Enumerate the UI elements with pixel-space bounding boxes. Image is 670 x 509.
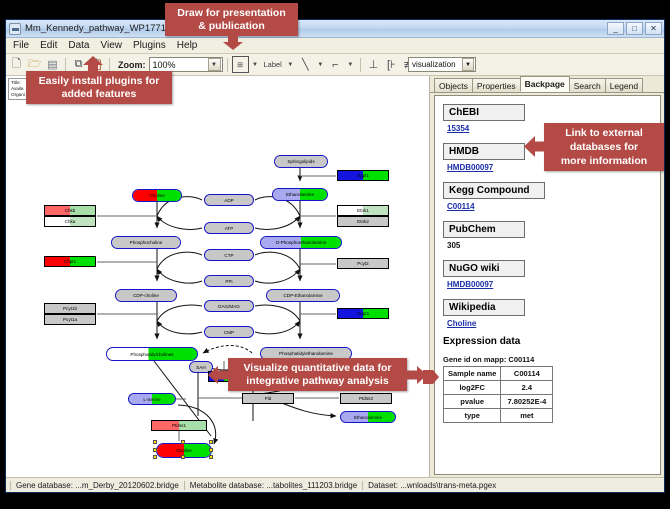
datanode-dropdown-icon[interactable]: ▼	[250, 56, 261, 73]
callout-links: Link to external databases for more info…	[544, 123, 664, 171]
pathway-node-choline-top[interactable]: Choline	[132, 189, 182, 202]
side-panel-tabs: Objects Properties Backpage Search Legen…	[430, 76, 664, 93]
pathway-node-cmp[interactable]: CMP	[204, 326, 254, 338]
node-label: Pcyt1b	[63, 306, 77, 311]
callout-visualize: Visualize quantitative data for integrat…	[228, 358, 407, 391]
node-label: L-Serine	[143, 397, 160, 402]
pathway-node-etnk2[interactable]: Etnk2	[337, 216, 389, 227]
menu-data[interactable]: Data	[66, 39, 95, 52]
callout-draw-text: Draw for presentation & publication	[177, 7, 286, 33]
maximize-button[interactable]: □	[626, 22, 643, 35]
selection-handle[interactable]	[153, 448, 157, 452]
menu-plugins[interactable]: Plugins	[131, 39, 172, 52]
expr-label-cell: Sample name	[444, 367, 501, 381]
tab-search[interactable]: Search	[569, 78, 606, 92]
callout-visualize-text: Visualize quantitative data for integrat…	[243, 362, 391, 388]
callout-draw-arrow-icon	[222, 35, 244, 50]
node-label: DAG/MAG	[218, 304, 240, 309]
node-label: ADP	[224, 198, 233, 203]
visualization-combobox[interactable]: visualization ▼	[408, 57, 476, 72]
expression-data-title: Expression data	[443, 336, 660, 347]
menu-edit[interactable]: Edit	[38, 39, 63, 52]
expression-table: Sample nameC00114log2FC2.4pvalue7.80252E…	[443, 366, 553, 423]
expr-value-cell: 7.80252E-4	[501, 395, 553, 409]
zoom-combobox[interactable]: 100% ▼	[149, 57, 223, 72]
menu-file[interactable]: File	[11, 39, 35, 52]
line-dropdown-icon[interactable]: ▼	[315, 56, 326, 73]
node-label: Chpt1	[64, 259, 76, 264]
window-titlebar: Mm_Kennedy_pathway_WP1771_45176.gpml _ □…	[6, 20, 664, 38]
screenshot-root: Mm_Kennedy_pathway_WP1771_45176.gpml _ □…	[0, 0, 670, 509]
datanode-icon[interactable]: ⊞	[232, 56, 249, 73]
backpage-header-wikipedia: Wikipedia	[443, 299, 525, 316]
node-label: SAH	[196, 365, 205, 370]
tab-properties[interactable]: Properties	[472, 78, 521, 92]
backpage-header-hmdb: HMDB	[443, 143, 525, 160]
pathway-node-sgpl1[interactable]: Sgpl1	[337, 170, 389, 181]
minimize-button[interactable]: _	[607, 22, 624, 35]
node-label: Pcyt1a	[63, 317, 77, 322]
node-label: ATP	[225, 226, 234, 231]
node-label: CTP	[224, 253, 233, 258]
node-label: Etnk2	[357, 219, 369, 224]
tab-objects[interactable]: Objects	[434, 78, 473, 92]
chevron-down-icon[interactable]: ▼	[462, 58, 474, 71]
tab-legend[interactable]: Legend	[605, 78, 643, 92]
selection-handle[interactable]	[181, 440, 185, 444]
node-label: Choline	[176, 448, 192, 453]
node-label: CDP-Ethanolamine	[283, 293, 322, 298]
expr-value-cell: met	[501, 409, 553, 423]
callout-visualize-left-arrow-icon	[208, 365, 230, 385]
table-row: pvalue7.80252E-4	[444, 395, 553, 409]
pathway-node-chpt1[interactable]: Chpt1	[44, 256, 96, 267]
line-tool-icon[interactable]: ╲	[297, 56, 314, 73]
statusbar: Gene database: ...m_Derby_20120602.bridg…	[6, 477, 664, 492]
zoom-label: Zoom:	[118, 60, 146, 70]
visualization-value: visualization	[412, 60, 456, 69]
pathway-node-ctp[interactable]: CTP	[204, 249, 254, 261]
node-label: Pcyt2	[357, 261, 369, 266]
pathway-canvas[interactable]: Title: Availa Organi	[6, 76, 430, 477]
pathway-node-o-phosphoeth[interactable]: O-Phosphoethanolamine	[260, 236, 342, 249]
pathway-node-ptdss2[interactable]: Ptdss2	[340, 393, 392, 404]
receptor-tool-icon[interactable]: ⌐	[327, 56, 344, 73]
pathway-node-dagmag[interactable]: DAG/MAG	[204, 300, 254, 312]
gene-id-line: Gene id on mapp: C00114	[443, 355, 660, 364]
backpage-value-nugo-wiki[interactable]: HMDB00097	[447, 280, 660, 289]
node-label: Ethanolamine	[286, 192, 314, 197]
node-label: Ptdss1	[172, 423, 186, 428]
expr-value-cell: 2.4	[501, 381, 553, 395]
pathway-node-ptdss1[interactable]: Ptdss1	[151, 420, 207, 431]
node-label: Phosphatidylethanolamine	[279, 351, 333, 356]
menu-view[interactable]: View	[98, 39, 128, 52]
table-row: log2FC2.4	[444, 381, 553, 395]
toolbar-separator-1	[65, 58, 66, 72]
pathway-node-chkb[interactable]: Chkb	[44, 205, 96, 216]
node-label: CMP	[224, 330, 234, 335]
pathway-node-cdp-choline[interactable]: CDP-choline	[115, 289, 177, 302]
node-label: Choline	[149, 193, 165, 198]
node-label: Sphingolipids	[287, 159, 314, 164]
pathway-node-pcyt2[interactable]: Pcyt2	[337, 258, 389, 269]
callout-links-text: Link to external databases for more info…	[561, 126, 647, 168]
pathway-node-ethanolamine-2[interactable]: Ethanolamine	[340, 411, 396, 423]
node-label: PPi	[225, 279, 232, 284]
pathway-node-ppi[interactable]: PPi	[204, 275, 254, 287]
zoom-value: 100%	[153, 60, 176, 70]
group-icon[interactable]: [⊦	[383, 56, 400, 73]
selection-handle[interactable]	[181, 455, 185, 459]
backpage-value-kegg-compound[interactable]: C00114	[447, 202, 660, 211]
callout-plugins-text: Easily install plugins for added feature…	[39, 75, 160, 101]
node-label: Ptdss2	[359, 396, 373, 401]
toolbar-separator-2	[109, 58, 110, 72]
pathway-node-etnk1[interactable]: Etnk1	[337, 205, 389, 216]
table-row: typemet	[444, 409, 553, 423]
node-label: O-Phosphoethanolamine	[276, 240, 327, 245]
backpage-header-kegg-compound: Kegg Compound	[443, 182, 545, 199]
node-label: Phosphocholine	[130, 240, 163, 245]
node-label: Cept1	[357, 311, 369, 316]
pathway-node-cdp-ethanol[interactable]: CDP-Ethanolamine	[266, 289, 340, 302]
tab-backpage[interactable]: Backpage	[520, 76, 570, 92]
pathway-node-chka[interactable]: Chka	[44, 216, 96, 227]
callout-plugins: Easily install plugins for added feature…	[26, 71, 172, 104]
node-label: Ethanolamine	[354, 415, 382, 420]
backpage-header-pubchem: PubChem	[443, 221, 525, 238]
node-label: Phosphatidylcholines	[130, 352, 173, 357]
pathway-node-l-serine-1[interactable]: L-Serine	[128, 393, 176, 405]
pathway-node-adp[interactable]: ADP	[204, 194, 254, 206]
menu-help[interactable]: Help	[175, 39, 204, 52]
toolbar-separator-4	[360, 58, 361, 72]
pathway-node-ethanolamine-1[interactable]: Ethanolamine	[272, 188, 328, 201]
expr-value-cell: C00114	[501, 367, 553, 381]
application-icon	[9, 23, 21, 35]
expr-label-cell: log2FC	[444, 381, 501, 395]
pathway-node-atp[interactable]: ATP	[204, 222, 254, 234]
backpage-value-wikipedia[interactable]: Choline	[447, 319, 660, 328]
selection-handle[interactable]	[209, 440, 213, 444]
node-label: CDP-choline	[133, 293, 159, 298]
status-metabolite-database: Metabolite database: ...tabolites_111203…	[184, 481, 362, 490]
selection-handle[interactable]	[153, 440, 157, 444]
pathway-node-pcyt1a[interactable]: Pcyt1a	[44, 314, 96, 325]
selection-handle[interactable]	[153, 455, 157, 459]
backpage-header-nugo-wiki: NuGO wiki	[443, 260, 525, 277]
node-label: Sgpl1	[357, 173, 369, 178]
pathway-node-phosphocholine[interactable]: Phosphocholine	[111, 236, 181, 249]
expr-label-cell: type	[444, 409, 501, 423]
expr-label-cell: pvalue	[444, 395, 501, 409]
menubar: File Edit Data View Plugins Help	[6, 38, 664, 54]
node-label: Chka	[65, 219, 76, 224]
pathway-node-pcyt1b[interactable]: Pcyt1b	[44, 303, 96, 314]
toolbar-separator-3	[227, 58, 228, 72]
status-dataset: Dataset: ...wnloads\trans-meta.pgex	[362, 481, 501, 490]
callout-plugins-arrow-icon	[82, 56, 104, 72]
window-buttons: _ □ ✕	[607, 22, 662, 35]
table-row: Sample nameC00114	[444, 367, 553, 381]
selection-handle[interactable]	[209, 448, 213, 452]
backpage-header-chebi: ChEBI	[443, 104, 525, 121]
new-file-icon[interactable]: 🗋	[8, 56, 25, 73]
status-gene-database: Gene database: ...m_Derby_20120602.bridg…	[10, 481, 184, 490]
node-label: Chkb	[65, 208, 76, 213]
callout-draw: Draw for presentation & publication	[165, 3, 298, 36]
selection-handle[interactable]	[209, 455, 213, 459]
backpage-value-pubchem: 305	[447, 241, 660, 250]
chevron-down-icon[interactable]: ▼	[208, 58, 221, 71]
callout-expression-arrow-icon	[423, 368, 439, 386]
node-label: Etnk1	[357, 208, 369, 213]
close-button[interactable]: ✕	[645, 22, 662, 35]
label-tool-button[interactable]: Label	[262, 60, 284, 69]
pathway-node-sphingolipids[interactable]: Sphingolipids	[274, 155, 328, 168]
pathway-node-cept1[interactable]: Cept1	[337, 308, 389, 319]
label-dropdown-icon[interactable]: ▼	[285, 56, 296, 73]
align-icon[interactable]: ⊥	[365, 56, 382, 73]
pathway-node-ptdcholines[interactable]: Phosphatidylcholines	[106, 347, 198, 361]
pathway-node-pld[interactable]: Pld	[242, 393, 294, 404]
callout-links-arrow-icon	[524, 135, 546, 158]
node-label: Pld	[265, 396, 272, 401]
receptor-dropdown-icon[interactable]: ▼	[345, 56, 356, 73]
